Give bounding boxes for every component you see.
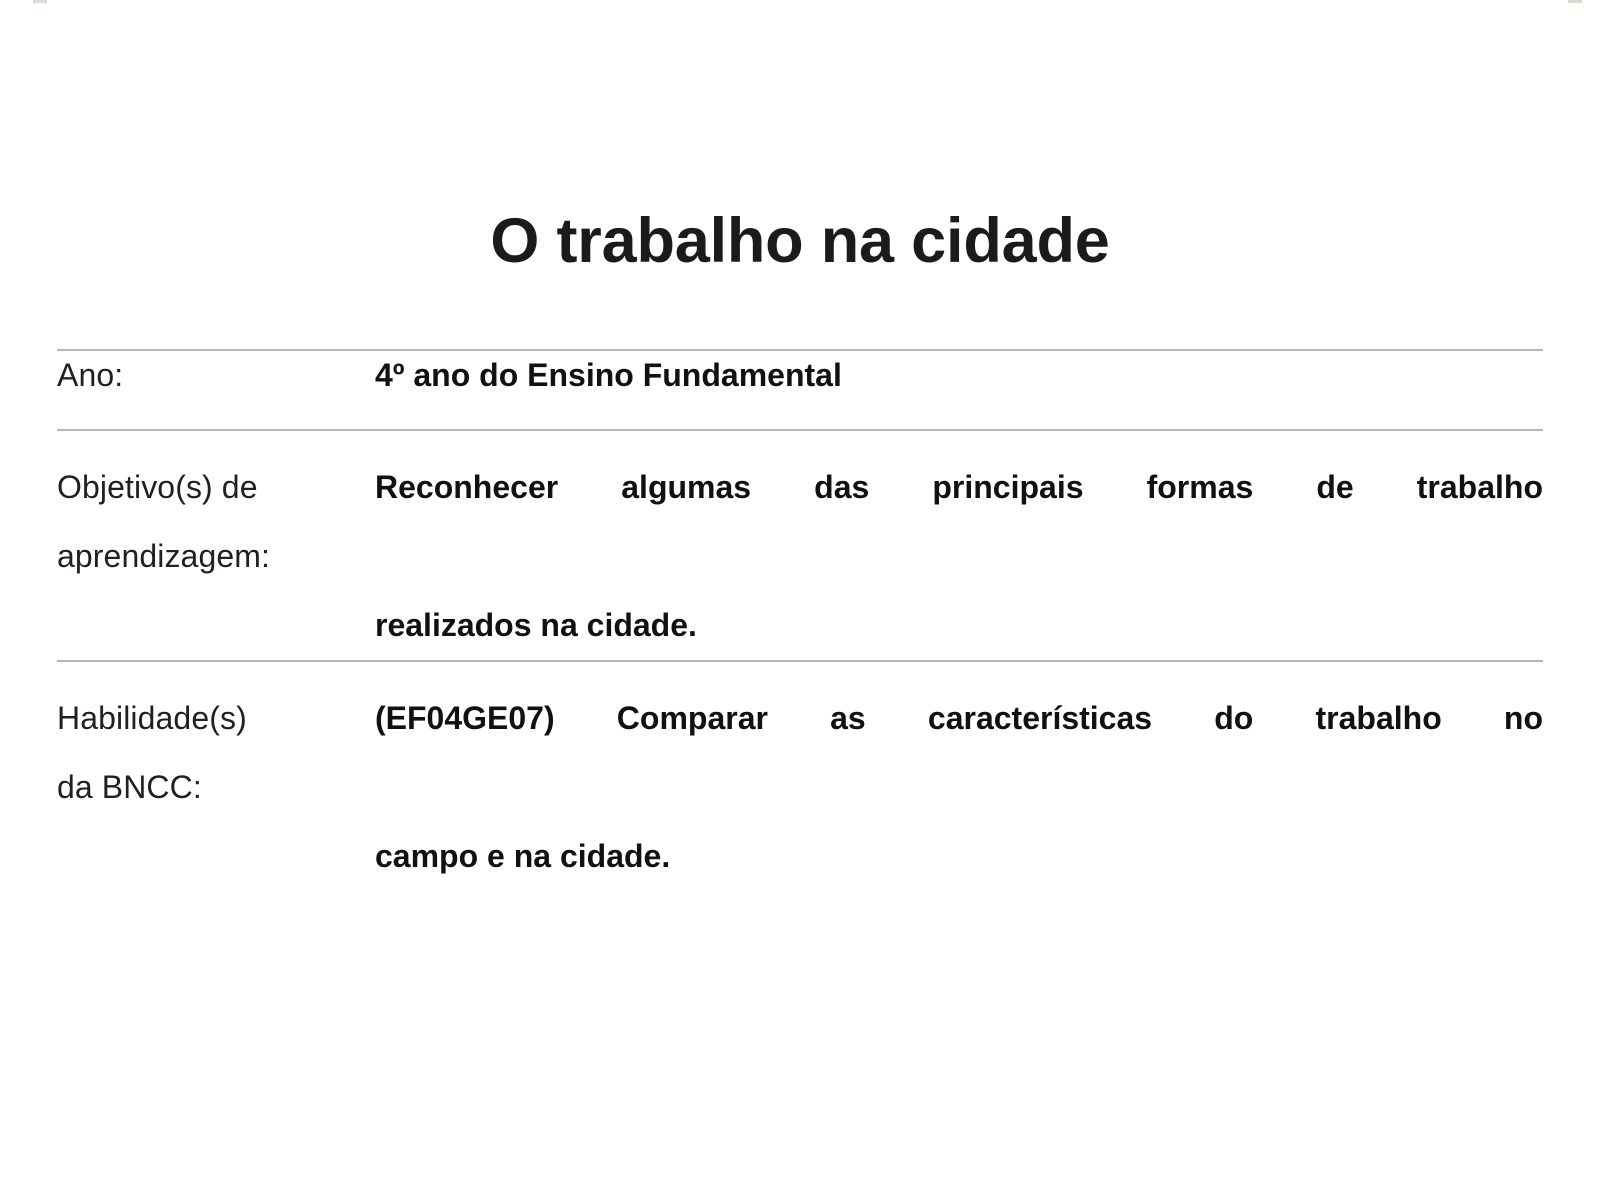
- row-value-ano-line-1: 4º ano do Ensino Fundamental: [375, 351, 1543, 399]
- table-row: Ano: 4º ano do Ensino Fundamental: [57, 350, 1543, 430]
- row-label-habilidade: Habilidade(s) da BNCC:: [57, 661, 375, 891]
- document-page: O trabalho na cidade Ano: 4º ano do Ensi…: [0, 0, 1600, 1200]
- row-value-habilidade-line-2: campo e na cidade.: [375, 822, 1543, 891]
- scan-artifact-left-icon: [33, 0, 47, 3]
- row-label-objetivo-line-2: aprendizagem:: [57, 538, 270, 574]
- page-title: O trabalho na cidade: [57, 203, 1543, 279]
- scan-artifact-right-icon: [1568, 0, 1582, 3]
- table-row: Objetivo(s) de aprendizagem: Reconhecer …: [57, 430, 1543, 661]
- row-label-objetivo: Objetivo(s) de aprendizagem:: [57, 430, 375, 661]
- row-value-ano: 4º ano do Ensino Fundamental: [375, 350, 1543, 430]
- table-row: Habilidade(s) da BNCC: (EF04GE07) Compar…: [57, 661, 1543, 891]
- row-value-objetivo-line-2: realizados na cidade.: [375, 591, 1543, 660]
- row-value-objetivo: Reconhecer algumas das principais formas…: [375, 430, 1543, 661]
- row-label-objetivo-line-1: Objetivo(s) de: [57, 469, 258, 505]
- row-value-habilidade: (EF04GE07) Comparar as características d…: [375, 661, 1543, 891]
- row-label-habilidade-line-1: Habilidade(s): [57, 700, 247, 736]
- lesson-info-table: Ano: 4º ano do Ensino Fundamental Objeti…: [57, 349, 1543, 891]
- row-label-ano: Ano:: [57, 350, 375, 430]
- row-value-objetivo-line-1: Reconhecer algumas das principais formas…: [375, 453, 1543, 591]
- row-label-habilidade-line-2: da BNCC:: [57, 769, 202, 805]
- row-value-habilidade-line-1: (EF04GE07) Comparar as características d…: [375, 684, 1543, 822]
